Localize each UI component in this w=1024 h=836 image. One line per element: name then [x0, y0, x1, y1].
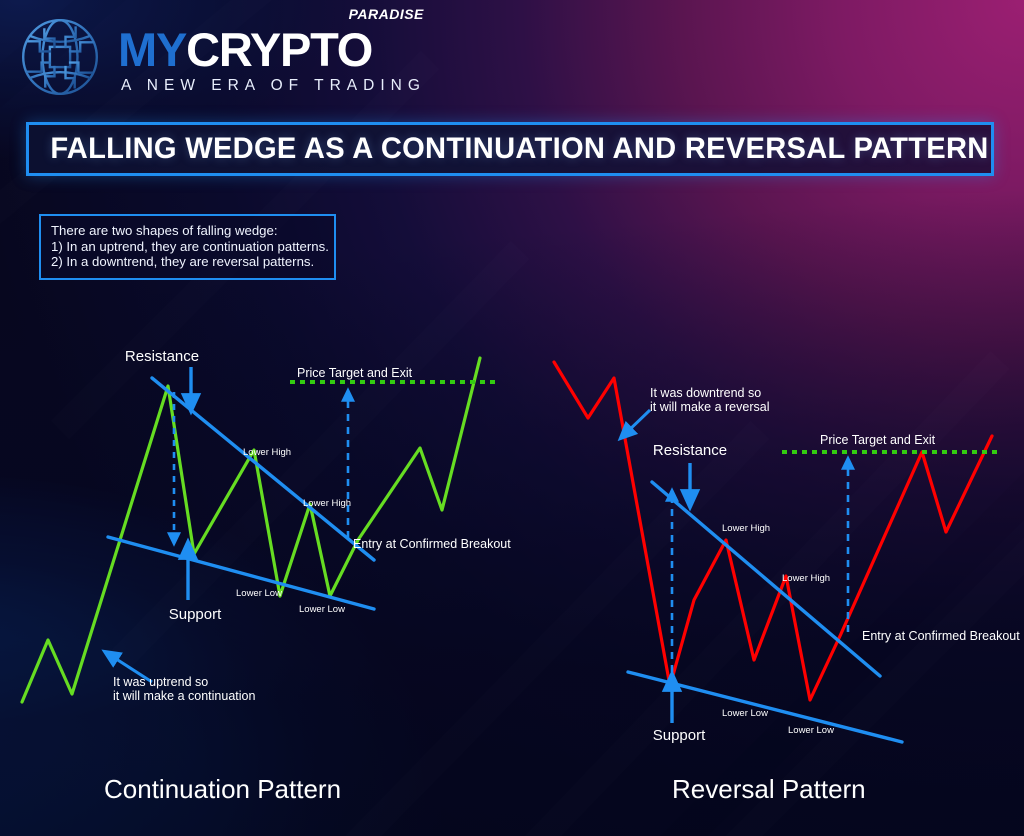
caption-continuation-pattern: Continuation Pattern [104, 774, 341, 805]
label-price-target-reversal: Price Target and Exit [820, 433, 936, 447]
trend-note-arrow-reversal [625, 410, 650, 434]
label-lower-low-1-continuation: Lower Low [236, 588, 282, 599]
chart-continuation: Resistance Support Price Target and Exit… [22, 348, 511, 703]
caption-reversal-pattern: Reversal Pattern [672, 774, 866, 805]
trend-note-line2-reversal: it will make a reversal [650, 400, 769, 414]
label-resistance-continuation: Resistance [125, 348, 199, 365]
trend-note-line1-reversal: It was downtrend so [650, 386, 761, 400]
chart-reversal: It was downtrend so it will make a rever… [554, 362, 1020, 744]
label-lower-high-2-continuation: Lower High [303, 498, 351, 509]
label-lower-low-1-reversal: Lower Low [722, 708, 768, 719]
label-lower-high-1-continuation: Lower High [243, 447, 291, 458]
label-price-target-continuation: Price Target and Exit [297, 366, 413, 380]
charts-layer: Resistance Support Price Target and Exit… [0, 0, 1024, 836]
resistance-trendline-continuation [152, 378, 374, 560]
label-lower-low-2-reversal: Lower Low [788, 725, 834, 736]
label-resistance-reversal: Resistance [653, 442, 727, 459]
label-lower-high-2-reversal: Lower High [782, 573, 830, 584]
price-line-reversal [554, 362, 992, 700]
resistance-trendline-reversal [652, 482, 880, 676]
trend-note-line2-continuation: it will make a continuation [113, 689, 255, 703]
label-entry-reversal: Entry at Confirmed Breakout [862, 629, 1020, 643]
label-support-continuation: Support [169, 606, 222, 623]
label-lower-low-2-continuation: Lower Low [299, 604, 345, 615]
label-entry-continuation: Entry at Confirmed Breakout [353, 537, 511, 551]
price-line-continuation [22, 358, 480, 702]
label-lower-high-1-reversal: Lower High [722, 523, 770, 534]
infographic-canvas: MYCRYPTO PARADISE A NEW ERA OF TRADING F… [0, 0, 1024, 836]
label-support-reversal: Support [653, 727, 706, 744]
trend-note-line1-continuation: It was uptrend so [113, 675, 208, 689]
